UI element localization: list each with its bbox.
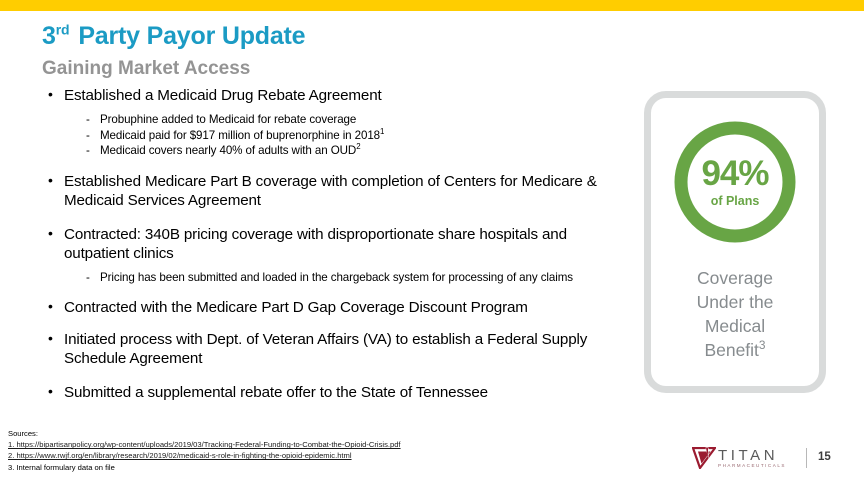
sub-bullet-text: Probuphine added to Medicaid for rebate …: [100, 113, 356, 126]
callout-caption: Coverage Under the Medical Benefit3: [651, 266, 819, 362]
bullet-item: Established a Medicaid Drug Rebate Agree…: [42, 86, 634, 105]
callout-caption-text: Benefit: [704, 340, 758, 360]
callout-caption-line: Benefit3: [651, 338, 819, 362]
titan-logo-subtitle: PHARMACEUTICALS: [718, 463, 786, 469]
bullet-item: Submitted a supplemental rebate offer to…: [42, 383, 634, 402]
donut-chart-svg: [669, 116, 801, 248]
sub-bullet-item: Medicaid paid for $917 million of bupren…: [42, 128, 634, 144]
footer-divider: [806, 448, 807, 468]
source-note-3: 3. Internal formulary data on file: [8, 462, 401, 473]
bullet-list: Established a Medicaid Drug Rebate Agree…: [42, 86, 634, 404]
bullet-item: Contracted: 340B pricing coverage with d…: [42, 225, 634, 263]
page-title: 3rdParty Payor Update: [42, 22, 305, 51]
callout-caption-superscript: 3: [759, 338, 766, 352]
sources-block: Sources: 1. https://bipartisanpolicy.org…: [8, 428, 401, 473]
page-number: 15: [818, 451, 831, 463]
bullet-text: Contracted: 340B pricing coverage with d…: [64, 226, 567, 262]
sub-bullet-item: Probuphine added to Medicaid for rebate …: [42, 112, 634, 128]
source-link-2[interactable]: 2. https://www.rwjf.org/en/library/resea…: [8, 450, 401, 461]
callout-caption-line: Coverage: [651, 266, 819, 290]
sub-bullet-item: Pricing has been submitted and loaded in…: [42, 270, 634, 286]
donut-ring-arc: [681, 128, 789, 236]
bullet-text: Submitted a supplemental rebate offer to…: [64, 384, 488, 401]
bullet-text: Initiated process with Dept. of Veteran …: [64, 331, 587, 367]
bullet-text: Established a Medicaid Drug Rebate Agree…: [64, 87, 382, 104]
titan-logo-name: TITAN: [718, 448, 786, 463]
page-subtitle: Gaining Market Access: [42, 58, 250, 80]
bullet-text: Established Medicare Part B coverage wit…: [64, 173, 597, 209]
sub-bullet-text: Medicaid paid for $917 million of bupren…: [100, 129, 380, 142]
titan-logo-text: TITAN PHARMACEUTICALS: [718, 448, 786, 469]
titan-logo: TITAN PHARMACEUTICALS: [692, 447, 786, 469]
donut-chart: 94% of Plans: [669, 116, 801, 248]
bullet-item: Initiated process with Dept. of Veteran …: [42, 330, 634, 368]
sources-heading: Sources:: [8, 428, 401, 439]
sub-bullet-superscript: 2: [356, 142, 360, 151]
titan-logo-mark-icon: [692, 447, 716, 469]
sub-bullet-text: Medicaid covers nearly 40% of adults wit…: [100, 144, 356, 157]
bullet-item: Established Medicare Part B coverage wit…: [42, 172, 634, 210]
page-title-ordinal-suffix: rd: [56, 22, 70, 38]
bullet-text: Contracted with the Medicare Part D Gap …: [64, 299, 528, 316]
bullet-item: Contracted with the Medicare Part D Gap …: [42, 298, 634, 317]
coverage-callout-card: 94% of Plans Coverage Under the Medical …: [644, 91, 826, 393]
sub-bullet-item: Medicaid covers nearly 40% of adults wit…: [42, 143, 634, 159]
sub-bullet-superscript: 1: [380, 127, 384, 136]
top-accent-bar: [0, 0, 864, 11]
sub-bullet-text: Pricing has been submitted and loaded in…: [100, 271, 573, 284]
callout-caption-line: Under the: [651, 290, 819, 314]
page-title-main: Party Payor Update: [78, 22, 305, 50]
source-link-1[interactable]: 1. https://bipartisanpolicy.org/wp-conte…: [8, 439, 401, 450]
page-title-ordinal: 3: [42, 22, 56, 50]
callout-caption-line: Medical: [651, 314, 819, 338]
